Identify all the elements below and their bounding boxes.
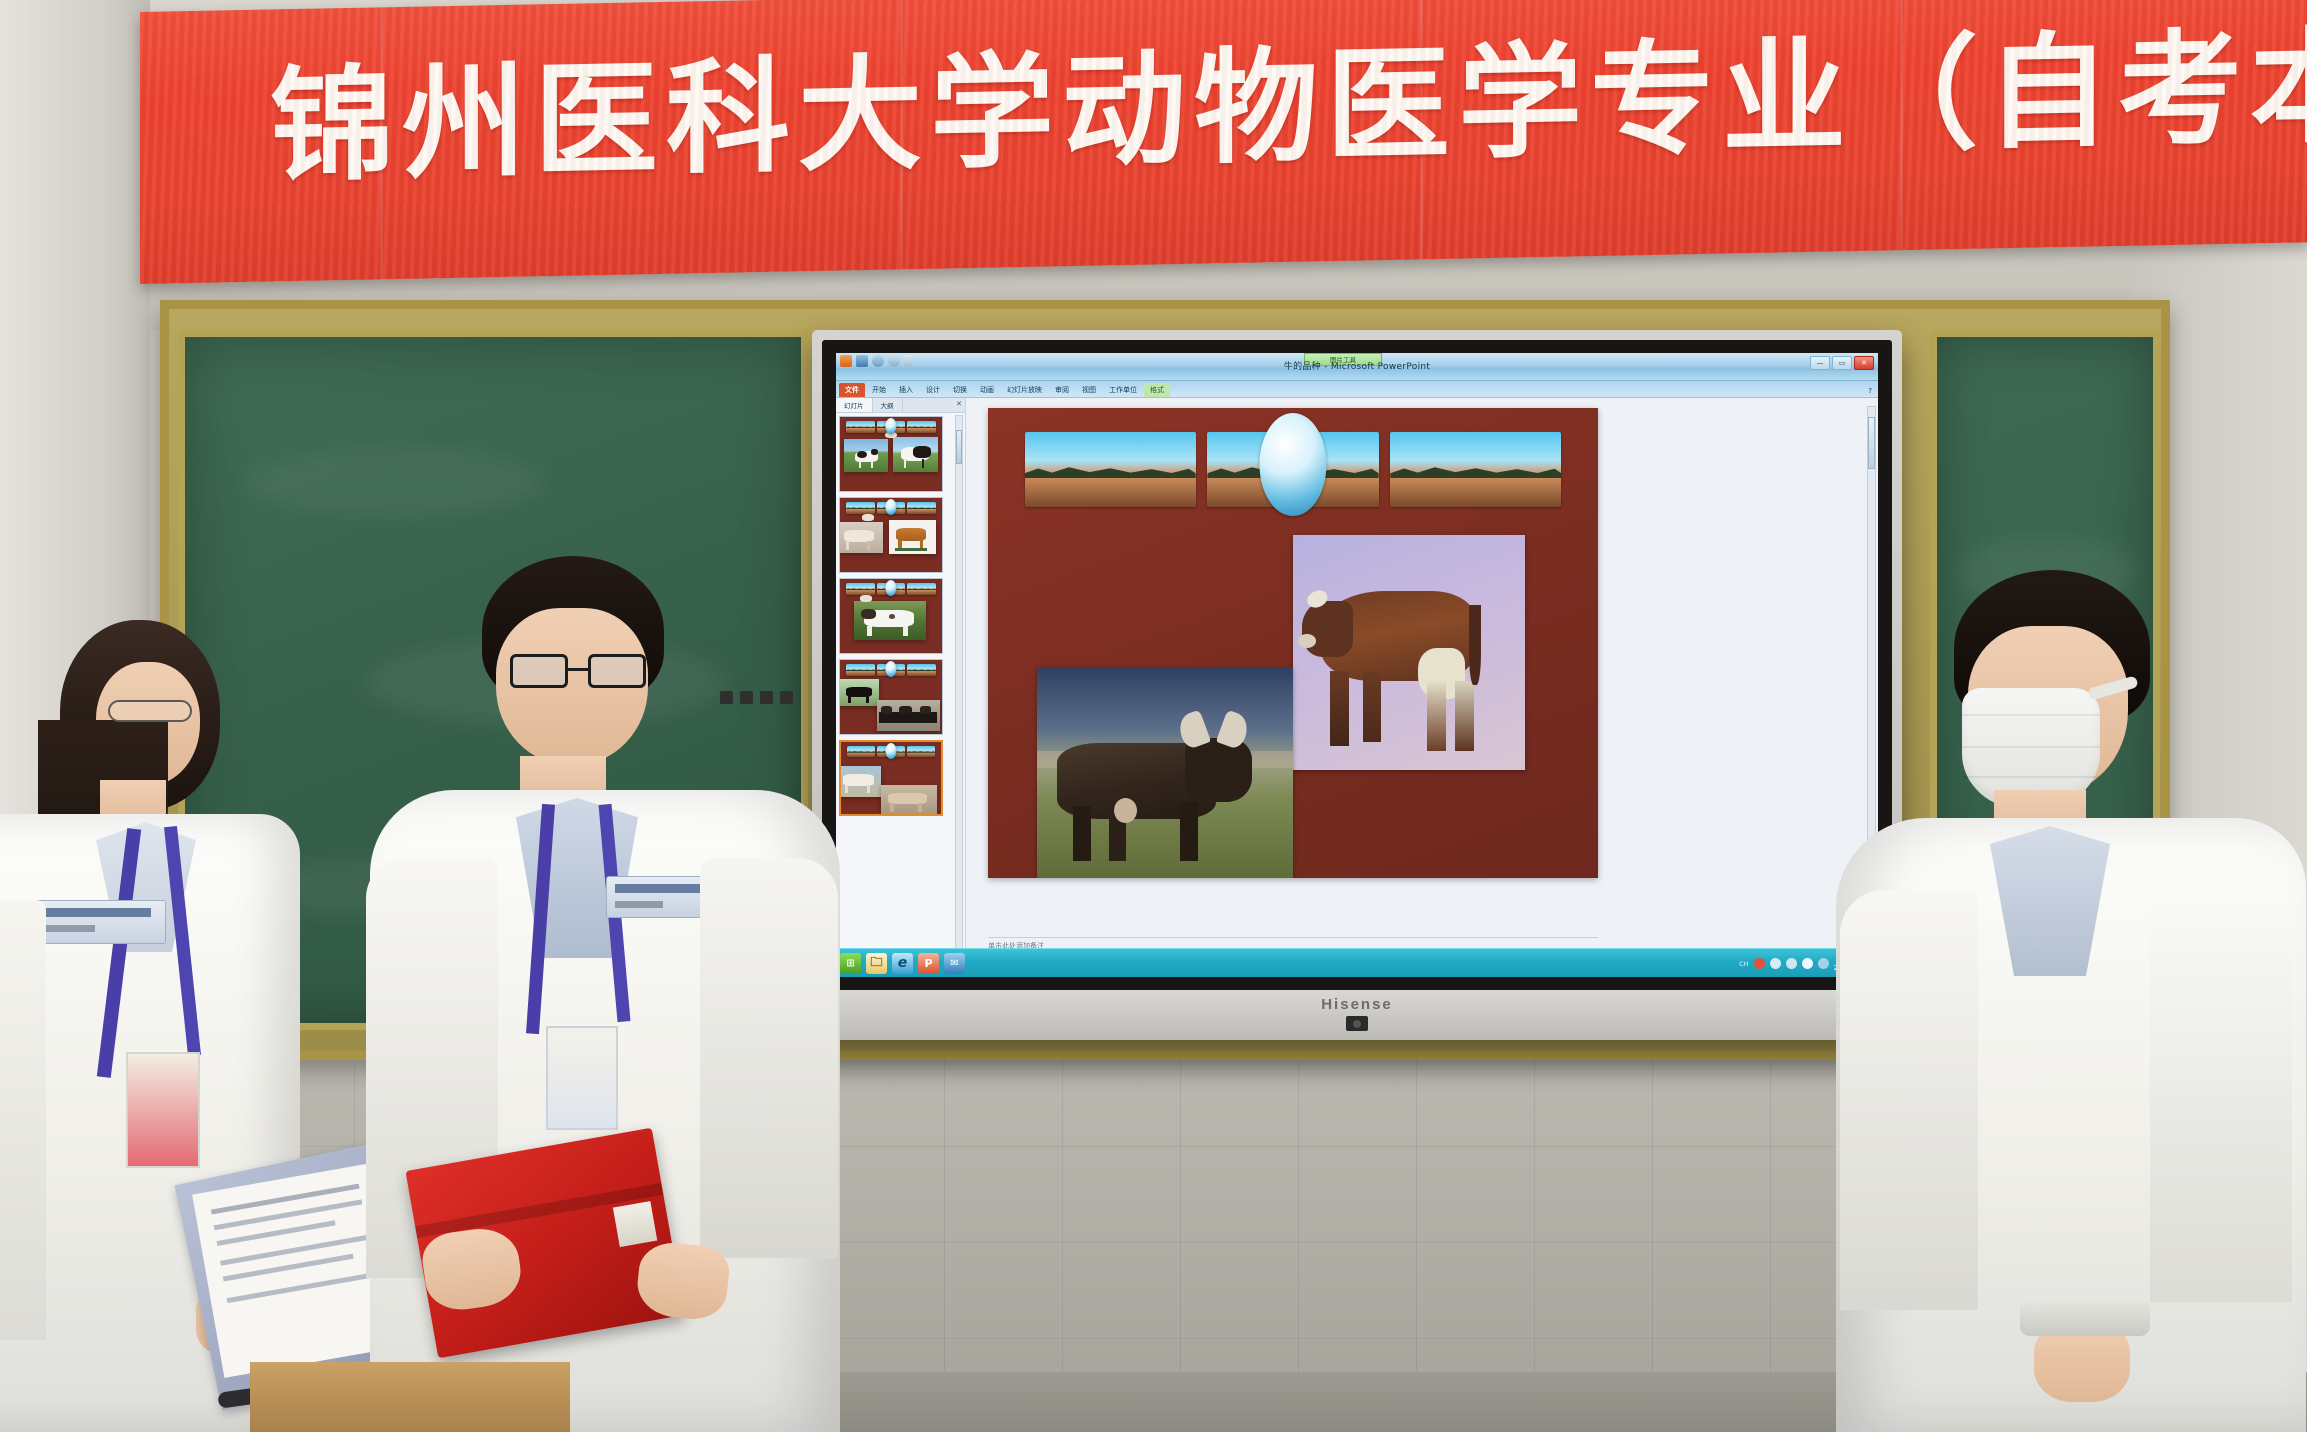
ribbon-tab-transitions[interactable]: 切换 bbox=[947, 383, 973, 397]
interactive-display: 图片工具 牛的品种 - Microsoft PowerPoint — ▭ ✕ 文… bbox=[812, 330, 1902, 1040]
ppt-workspace: 幻灯片 大纲 ✕ bbox=[836, 398, 1878, 965]
ribbon-tab-format[interactable]: 格式 bbox=[1144, 383, 1170, 397]
id-badge bbox=[126, 1052, 200, 1168]
maximize-button[interactable]: ▭ bbox=[1832, 356, 1852, 370]
close-panel-icon[interactable]: ✕ bbox=[956, 400, 962, 408]
powerpoint-icon[interactable]: P bbox=[918, 953, 939, 974]
display-bezel: 图片工具 牛的品种 - Microsoft PowerPoint — ▭ ✕ 文… bbox=[822, 340, 1892, 990]
start-button[interactable]: ⊞ bbox=[840, 953, 861, 974]
tab-outline[interactable]: 大纲 bbox=[873, 398, 903, 412]
ribbon-tab-slideshow[interactable]: 幻灯片放映 bbox=[1001, 383, 1048, 397]
ribbon-help-icon[interactable]: ? bbox=[1862, 385, 1878, 397]
female-student-left bbox=[0, 600, 330, 1432]
powerpoint-application[interactable]: 图片工具 牛的品种 - Microsoft PowerPoint — ▭ ✕ 文… bbox=[836, 353, 1878, 977]
display-chin: Hisense bbox=[812, 990, 1902, 1040]
ribbon-tab-animations[interactable]: 动画 bbox=[974, 383, 1000, 397]
slide-thumbnail-selected[interactable] bbox=[839, 740, 943, 816]
slide-thumbnail[interactable] bbox=[839, 416, 943, 492]
file-explorer-icon[interactable]: 🗀 bbox=[866, 953, 887, 974]
right-sleeve bbox=[2150, 890, 2292, 1302]
ribbon-tab-insert[interactable]: 插入 bbox=[893, 383, 919, 397]
name-tag bbox=[34, 900, 166, 944]
ribbon-tab-review[interactable]: 审阅 bbox=[1049, 383, 1075, 397]
tab-slides[interactable]: 幻灯片 bbox=[836, 398, 873, 412]
windows-taskbar[interactable]: ⊞ 🗀 e P ✉ CH 13:3 bbox=[836, 948, 1878, 977]
eyeglasses bbox=[510, 654, 648, 688]
slide-editor[interactable]: 单击此处添加备注 bbox=[966, 398, 1878, 965]
male-student-right bbox=[1870, 560, 2307, 1432]
ppt-title-bar: 图片工具 牛的品种 - Microsoft PowerPoint — ▭ ✕ bbox=[836, 353, 1878, 381]
display-brand-label: Hisense bbox=[1321, 996, 1393, 1013]
antivirus-icon[interactable] bbox=[1754, 958, 1765, 969]
ribbon-tab-view[interactable]: 视图 bbox=[1076, 383, 1102, 397]
minimize-button[interactable]: — bbox=[1810, 356, 1830, 370]
cuff bbox=[2020, 1298, 2150, 1336]
left-sleeve bbox=[0, 900, 46, 1340]
ime-indicator[interactable]: CH bbox=[1739, 960, 1748, 968]
slide-outline-tabs[interactable]: 幻灯片 大纲 ✕ bbox=[836, 398, 965, 413]
right-sleeve bbox=[700, 858, 838, 1258]
ribbon-tab-strip[interactable]: 文件 开始 插入 设计 切换 动画 幻灯片放映 审阅 视图 工作单位 格式 ? bbox=[836, 381, 1878, 398]
window-controls[interactable]: — ▭ ✕ bbox=[1810, 356, 1874, 370]
close-button[interactable]: ✕ bbox=[1854, 356, 1874, 370]
ppt-window-title: 牛的品种 - Microsoft PowerPoint bbox=[836, 359, 1878, 372]
eyeglasses bbox=[108, 700, 192, 722]
action-center-icon[interactable] bbox=[1786, 958, 1797, 969]
hidden-icons[interactable] bbox=[1818, 958, 1829, 969]
theme-orb-icon bbox=[1259, 413, 1326, 516]
network-icon[interactable] bbox=[1770, 958, 1781, 969]
banner-title: 锦州医科大学动物医学专业（自考本科）实践 bbox=[270, 20, 2307, 196]
event-banner: 锦州医科大学动物医学专业（自考本科）实践 bbox=[140, 0, 2307, 284]
ribbon-tab-home[interactable]: 开始 bbox=[866, 383, 892, 397]
slide-thumbnail[interactable] bbox=[839, 578, 943, 654]
thumbnail-scrollbar[interactable] bbox=[955, 415, 963, 963]
ribbon-tab-file[interactable]: 文件 bbox=[839, 383, 865, 397]
left-sleeve bbox=[1840, 890, 1978, 1310]
male-presenter-center bbox=[370, 528, 840, 1432]
ribbon-tab-workunit[interactable]: 工作单位 bbox=[1103, 383, 1143, 397]
wooden-lectern bbox=[250, 1362, 570, 1432]
classroom-scene: 锦州医科大学动物医学专业（自考本科）实践 bbox=[0, 0, 2307, 1432]
brown-white-cow-photo[interactable] bbox=[1293, 535, 1525, 770]
ir-sensor-icon bbox=[1346, 1016, 1368, 1031]
id-badge bbox=[546, 1026, 618, 1130]
internet-explorer-icon[interactable]: e bbox=[892, 953, 913, 974]
thumbnail-scroll-area[interactable] bbox=[836, 413, 965, 965]
slide-thumbnail-panel[interactable]: 幻灯片 大纲 ✕ bbox=[836, 398, 966, 965]
display-screen[interactable]: 图片工具 牛的品种 - Microsoft PowerPoint — ▭ ✕ 文… bbox=[836, 353, 1878, 977]
mail-icon[interactable]: ✉ bbox=[944, 953, 965, 974]
volume-icon[interactable] bbox=[1802, 958, 1813, 969]
current-slide[interactable] bbox=[988, 408, 1598, 878]
dark-bull-pasture-photo[interactable] bbox=[1037, 667, 1293, 879]
ribbon-tab-design[interactable]: 设计 bbox=[920, 383, 946, 397]
slide-thumbnail[interactable] bbox=[839, 497, 943, 573]
slide-thumbnail[interactable] bbox=[839, 659, 943, 735]
